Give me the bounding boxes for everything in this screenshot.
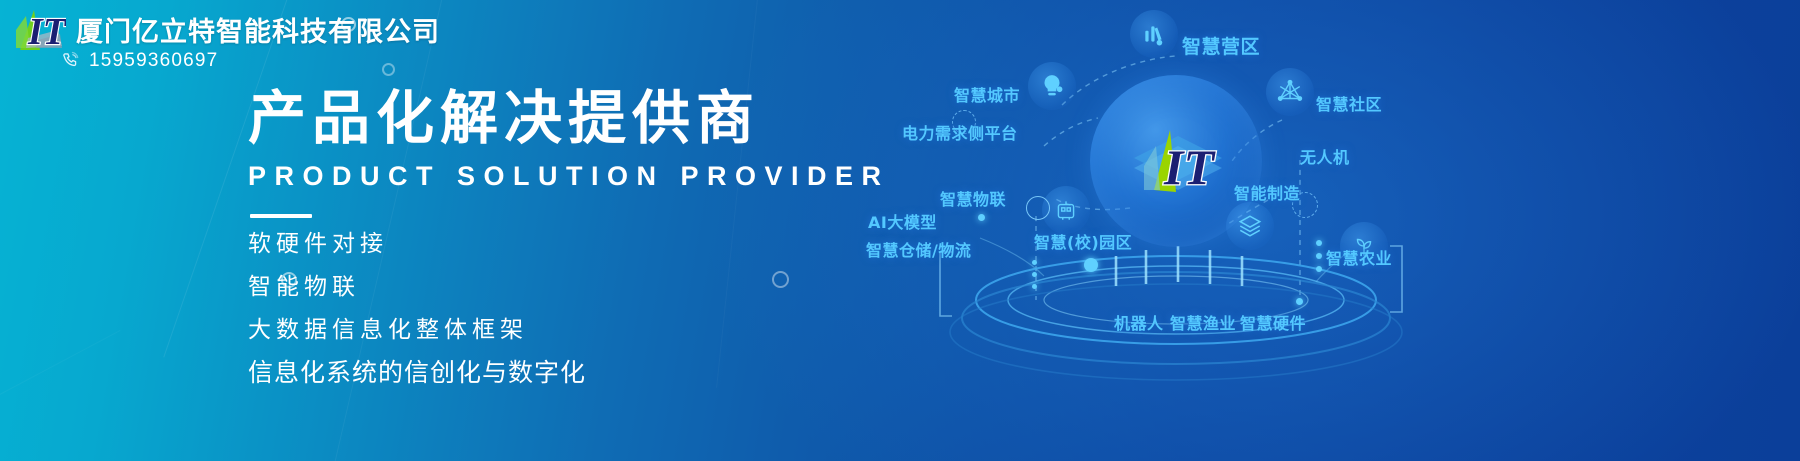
list-item: 大数据信息化整体框架 (248, 318, 890, 341)
headline-divider (250, 214, 312, 218)
decorative-dot (978, 214, 985, 221)
graphic-label-power-platform[interactable]: 电力需求侧平台 (902, 120, 1018, 144)
graphic-label-ai-model[interactable]: AI大模型 (868, 209, 937, 233)
layers-icon (1237, 213, 1263, 239)
phone-icon (60, 51, 80, 71)
it-logo-icon: IT (1126, 120, 1230, 202)
node-lightbulb-icon[interactable] (1028, 62, 1076, 110)
bar-chart-icon (1141, 21, 1167, 47)
graphic-label-smart-iot[interactable]: 智慧物联 (940, 186, 1006, 210)
it-logo-icon: IT (14, 6, 66, 52)
brand-header: IT 厦门亿立特智能科技有限公司 (14, 6, 440, 52)
node-layers-icon[interactable] (1226, 202, 1274, 250)
decorative-dot (1316, 240, 1322, 246)
decorative-ring (1026, 196, 1050, 220)
contact-phone[interactable]: 15959360697 (60, 50, 218, 72)
headline-cn: 产品化解决提供商 (248, 88, 890, 151)
graphic-label-robot[interactable]: 机器人 (1114, 310, 1164, 334)
hero-banner: IT 厦门亿立特智能科技有限公司 15959360697 产品化解决提供商 PR… (0, 0, 1800, 461)
graphic-label-smart-hardware[interactable]: 智慧硬件 (1240, 310, 1306, 334)
decorative-dot (1032, 272, 1037, 277)
decorative-dot (1032, 260, 1037, 265)
decorative-dot (1084, 258, 1098, 272)
network-icon (1277, 79, 1303, 105)
graphic-label-drone[interactable]: 无人机 (1300, 144, 1350, 168)
connector-lines (830, 0, 1800, 461)
svg-text:IT: IT (27, 11, 66, 52)
campus-icon (1053, 197, 1079, 223)
graphic-label-smart-warehouse[interactable]: 智慧仓储/物流 (866, 237, 971, 261)
list-item: 智能物联 (248, 275, 890, 298)
decorative-dot (1316, 253, 1322, 259)
decorative-diagonal-line (0, 330, 120, 444)
node-bar-chart-icon[interactable] (1130, 10, 1178, 58)
graphic-label-smart-camp[interactable]: 智慧营区 (1182, 32, 1260, 59)
phone-number: 15959360697 (89, 50, 218, 72)
decorative-dot (1316, 266, 1322, 272)
decorative-dot (1032, 284, 1037, 289)
feature-list: 软硬件对接 智能物联 大数据信息化整体框架 信息化系统的信创化与数字化 (248, 232, 890, 386)
infographic: IT (830, 0, 1800, 461)
graphic-label-smart-community[interactable]: 智慧社区 (1316, 91, 1382, 115)
company-name: 厦门亿立特智能科技有限公司 (76, 10, 440, 49)
decorative-dot (1296, 298, 1303, 305)
power-icon (953, 141, 979, 167)
graphic-label-smart-campus[interactable]: 智慧(校)园区 (1034, 229, 1132, 253)
graphic-label-smart-fishery[interactable]: 智慧渔业 (1170, 310, 1236, 334)
decorative-ring (382, 63, 395, 76)
headline-en: PRODUCT SOLUTION PROVIDER (248, 161, 890, 192)
graphic-label-smart-agriculture[interactable]: 智慧农业 (1326, 245, 1392, 269)
list-item: 软硬件对接 (248, 232, 890, 255)
lightbulb-icon (1039, 73, 1065, 99)
node-network-icon[interactable] (1266, 68, 1314, 116)
headline-block: 产品化解决提供商 PRODUCT SOLUTION PROVIDER 软硬件对接… (248, 88, 890, 406)
graphic-label-smart-manufacturing[interactable]: 智能制造 (1234, 180, 1300, 204)
svg-text:IT: IT (1163, 139, 1216, 195)
graphic-label-smart-city[interactable]: 智慧城市 (954, 82, 1020, 106)
list-item: 信息化系统的信创化与数字化 (248, 361, 890, 386)
